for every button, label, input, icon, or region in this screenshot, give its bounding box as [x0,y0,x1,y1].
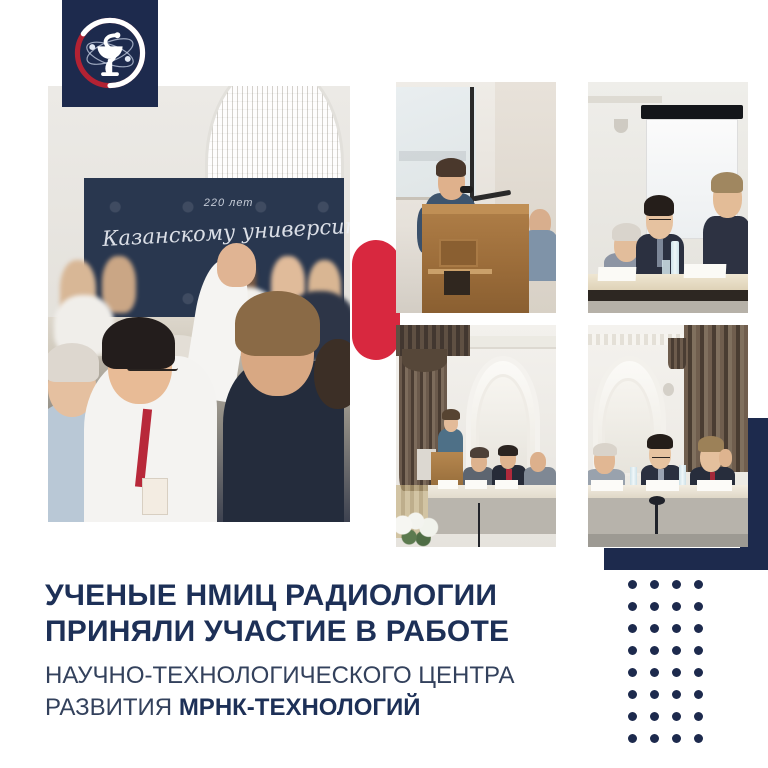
name-plate [495,480,517,489]
name-plate [438,480,459,489]
grid-dot [628,646,637,655]
ceiling-cornice [588,96,662,103]
medical-bowl-of-hygieia-icon [73,16,147,90]
photo-ornate-hall-presentation [396,325,556,547]
name-plate [697,480,732,491]
grid-dot [650,646,659,655]
name-plate [597,267,636,281]
photo-conference-hall-audience: 220 лет Казанскому университету [48,86,350,522]
presidium-member-two-glasses [652,452,670,459]
grid-dot [672,690,681,699]
subheadline-prefix: РАЗВИТИЯ [45,694,179,721]
name-plate [646,480,680,491]
microphone-cable [470,87,474,203]
grid-dot [650,602,659,611]
panelist-one-hair [612,223,641,241]
hall-panelist-two-hair [498,445,517,456]
panelist-three-hair [711,172,743,193]
grid-dot [694,690,703,699]
presidium-table-front [588,498,748,536]
red-accent-shape [352,240,400,360]
presidium-member-one-hair [593,443,617,456]
hall-panelist-one-hair [470,447,489,458]
navy-frame-bottom [604,548,768,570]
curtain-swag [402,349,447,371]
flower-arrangement [396,509,447,547]
projector-screen-housing [641,105,743,119]
name-plate [684,264,726,278]
seated-person-left-hair [48,343,99,382]
panel-table-base [588,301,748,313]
decorative-column [668,338,686,369]
subheadline-line-2: РАЗВИТИЯ МРНК-ТЕХНОЛОГИЙ [45,692,585,724]
grid-dot [694,580,703,589]
grid-dot [628,602,637,611]
eyeglasses [127,356,178,371]
grid-dot [628,624,637,633]
subheadline-block: НАУЧНО-ТЕХНОЛОГИЧЕСКОГО ЦЕНТРА РАЗВИТИЯ … [45,660,585,724]
grid-dot [694,734,703,743]
presidium-member-three-hand [719,449,732,467]
speaker-hair [436,158,466,176]
decorative-dot-grid [628,580,716,756]
photo-speaker-at-podium [396,82,556,313]
grid-dot [694,646,703,655]
headline-line-2: ПРИНЯЛИ УЧАСТИЕ В РАБОТЕ [45,614,585,650]
grid-dot [694,602,703,611]
grid-dot [628,580,637,589]
floor-microphone-stand [478,503,481,547]
headline-line-1: УЧЕНЫЕ НМИЦ РАДИОЛОГИИ [45,578,585,614]
grid-dot [672,624,681,633]
podium-emblem-plate [444,271,470,294]
grid-dot [650,734,659,743]
subheadline-line-1: НАУЧНО-ТЕХНОЛОГИЧЕСКОГО ЦЕНТРА [45,660,585,692]
grid-dot [650,624,659,633]
grid-dot [694,624,703,633]
raised-hand [217,243,256,287]
poster-canvas: 220 лет Казанскому университету [0,0,768,768]
panelist-two-glasses [649,214,671,221]
foreground-man-suit-hair [235,291,320,356]
grid-dot [672,712,681,721]
microphone-head [460,186,473,193]
backdrop-anniversary-text: 220 лет [204,197,254,209]
foreground-person-far-right [314,339,350,409]
grid-dot [650,690,659,699]
subheadline-emphasis: МРНК-ТЕХНОЛОГИЙ [179,694,421,721]
grid-dot [650,712,659,721]
name-plate [465,480,487,489]
grid-dot [628,690,637,699]
grid-dot [672,646,681,655]
grid-dot [628,734,637,743]
presidium-member-three-hair [698,436,724,452]
headline-block: УЧЕНЫЕ НМИЦ РАДИОЛОГИИ ПРИНЯЛИ УЧАСТИЕ В… [45,578,585,650]
presidium-table-base [588,534,748,547]
photo-panel-with-screen [588,82,748,313]
grid-dot [694,668,703,677]
conference-badge [142,478,168,515]
wall-lamp [614,119,628,133]
grid-dot [650,668,659,677]
grid-dot [628,712,637,721]
presidium-member-two-hair [647,434,673,450]
photo-presidium-three-speakers [588,325,748,547]
grid-dot [694,712,703,721]
grid-dot [628,668,637,677]
grid-dot [672,668,681,677]
grid-dot [672,734,681,743]
organization-logo-badge [62,0,158,107]
podium-top-edge [422,204,529,213]
podium-panel-inset [439,239,477,267]
name-plate [591,480,623,491]
hall-panelist-three-head [530,452,546,472]
grid-dot [672,602,681,611]
hall-speaker-hair [442,409,460,420]
grid-dot [672,580,681,589]
grid-dot [650,580,659,589]
